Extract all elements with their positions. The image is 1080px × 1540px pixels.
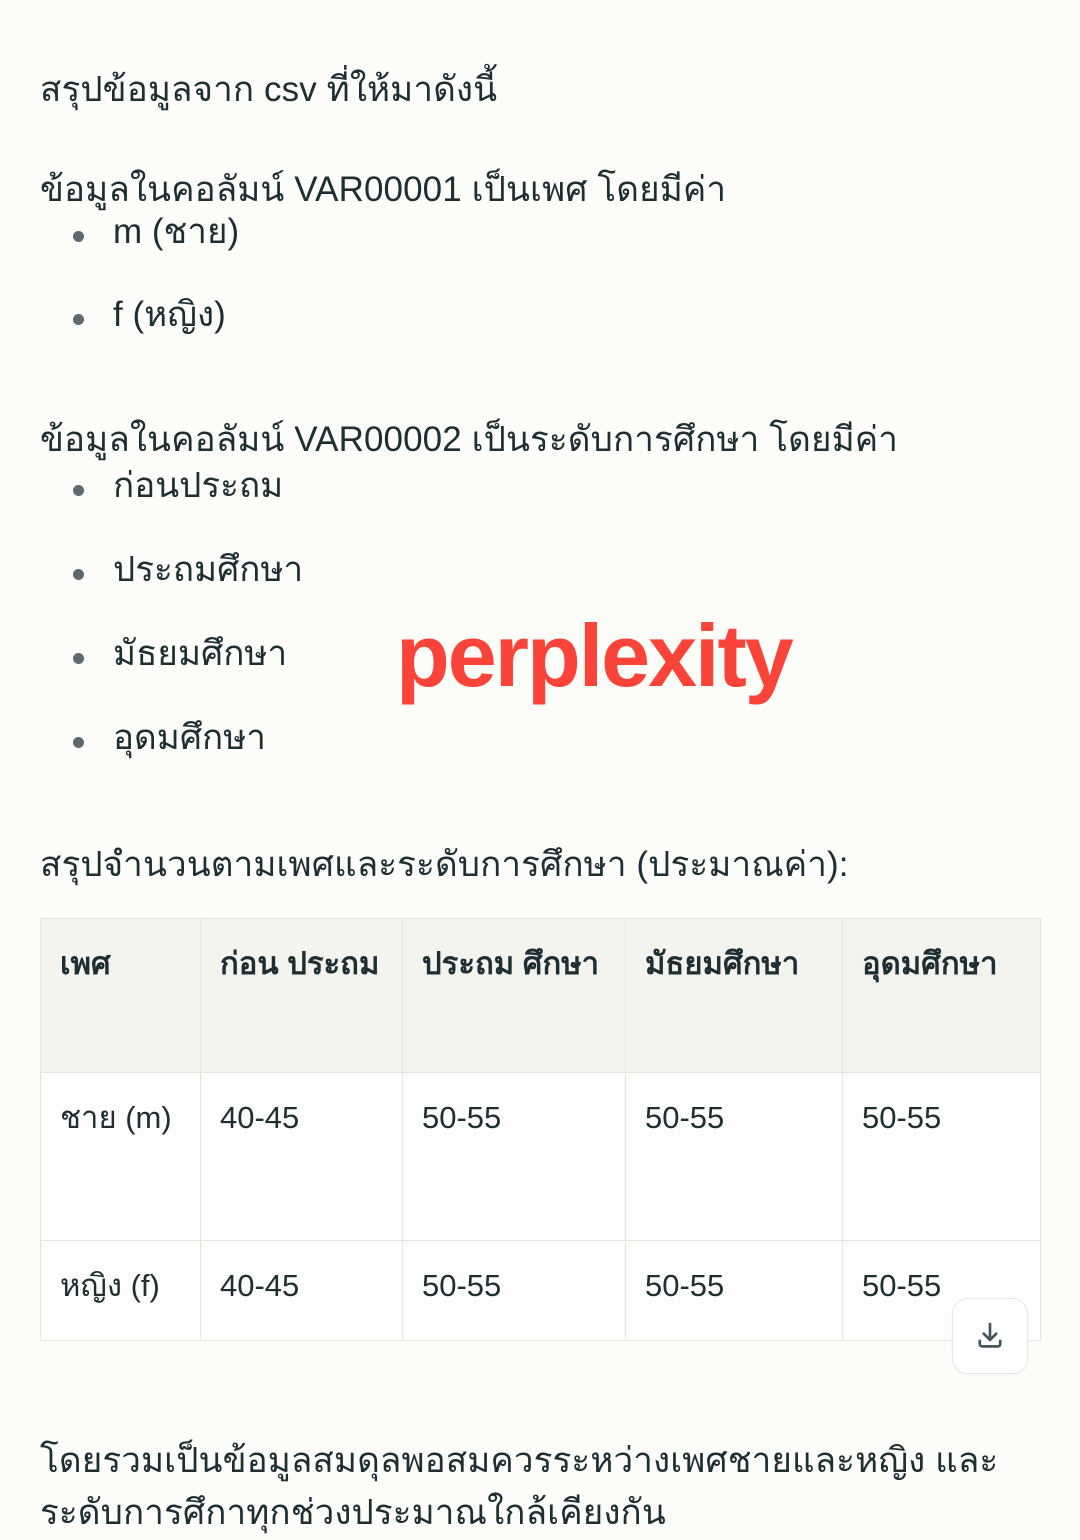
bullet-icon <box>73 737 84 748</box>
column-header-secondary: มัธยมศึกษา <box>626 919 843 1073</box>
table-row: ชาย (m) 40-45 50-55 50-55 50-55 <box>41 1073 1041 1241</box>
bullet-icon <box>73 231 84 242</box>
table-cell: 50-55 <box>626 1073 843 1241</box>
answer-page: สรุปข้อมูลจาก csv ที่ให้มาดังนี้ ข้อมูลใ… <box>0 0 1080 1540</box>
table-cell: 50-55 <box>403 1241 626 1341</box>
intro-paragraph: สรุปข้อมูลจาก csv ที่ให้มาดังนี้ <box>40 65 1040 115</box>
table-cell: 50-55 <box>626 1241 843 1341</box>
table-cell: 40-45 <box>201 1073 403 1241</box>
list-item: f (หญิง) <box>40 297 239 380</box>
summary-table: เพศ ก่อน ประถม ประถม ศึกษา มัธยมศึกษา อุ… <box>40 918 1041 1341</box>
column-header-preprimary: ก่อน ประถม <box>201 919 403 1073</box>
var00001-heading: ข้อมูลในคอลัมน์ VAR00001 เป็นเพศ โดยมีค่… <box>40 165 1040 215</box>
var00002-heading: ข้อมูลในคอลัมน์ VAR00002 เป็นระดับการศึก… <box>40 415 1040 465</box>
conclusion-paragraph: โดยรวมเป็นข้อมูลสมดุลพอสมควรระหว่างเพศชา… <box>40 1435 1040 1539</box>
list-item-label: ประถมศึกษา <box>113 552 303 587</box>
list-item-label: f (หญิง) <box>113 297 239 332</box>
column-header-tertiary: อุดมศึกษา <box>843 919 1041 1073</box>
list-item-label: อุดมศึกษา <box>113 720 303 755</box>
download-icon <box>973 1319 1007 1353</box>
list-item: อุดมศึกษา <box>40 720 303 804</box>
table-title: สรุปจำนวนตามเพศและระดับการศึกษา (ประมาณค… <box>40 840 1040 890</box>
gender-values-list: m (ชาย) f (หญิง) <box>40 214 239 380</box>
table-cell: 50-55 <box>403 1073 626 1241</box>
download-table-button[interactable] <box>952 1298 1028 1374</box>
list-item-label: ก่อนประถม <box>113 468 303 503</box>
bullet-icon <box>73 485 84 496</box>
list-item: มัธยมศึกษา <box>40 636 303 720</box>
education-values-list: ก่อนประถม ประถมศึกษา มัธยมศึกษา อุดมศึกษ… <box>40 468 303 804</box>
table-cell: 40-45 <box>201 1241 403 1341</box>
list-item: m (ชาย) <box>40 214 239 297</box>
summary-table-container: เพศ ก่อน ประถม ประถม ศึกษา มัธยมศึกษา อุ… <box>40 918 1040 1341</box>
table-header-row: เพศ ก่อน ประถม ประถม ศึกษา มัธยมศึกษา อุ… <box>41 919 1041 1073</box>
list-item: ก่อนประถม <box>40 468 303 552</box>
bullet-icon <box>73 569 84 580</box>
bullet-icon <box>73 314 84 325</box>
list-item-label: มัธยมศึกษา <box>113 636 303 671</box>
list-item-label: m (ชาย) <box>113 214 239 249</box>
row-label-male: ชาย (m) <box>41 1073 201 1241</box>
bullet-icon <box>73 653 84 664</box>
table-row: หญิง (f) 40-45 50-55 50-55 50-55 <box>41 1241 1041 1341</box>
list-item: ประถมศึกษา <box>40 552 303 636</box>
perplexity-watermark: perplexity <box>396 612 792 700</box>
row-label-female: หญิง (f) <box>41 1241 201 1341</box>
column-header-gender: เพศ <box>41 919 201 1073</box>
column-header-primary: ประถม ศึกษา <box>403 919 626 1073</box>
table-cell: 50-55 <box>843 1073 1041 1241</box>
